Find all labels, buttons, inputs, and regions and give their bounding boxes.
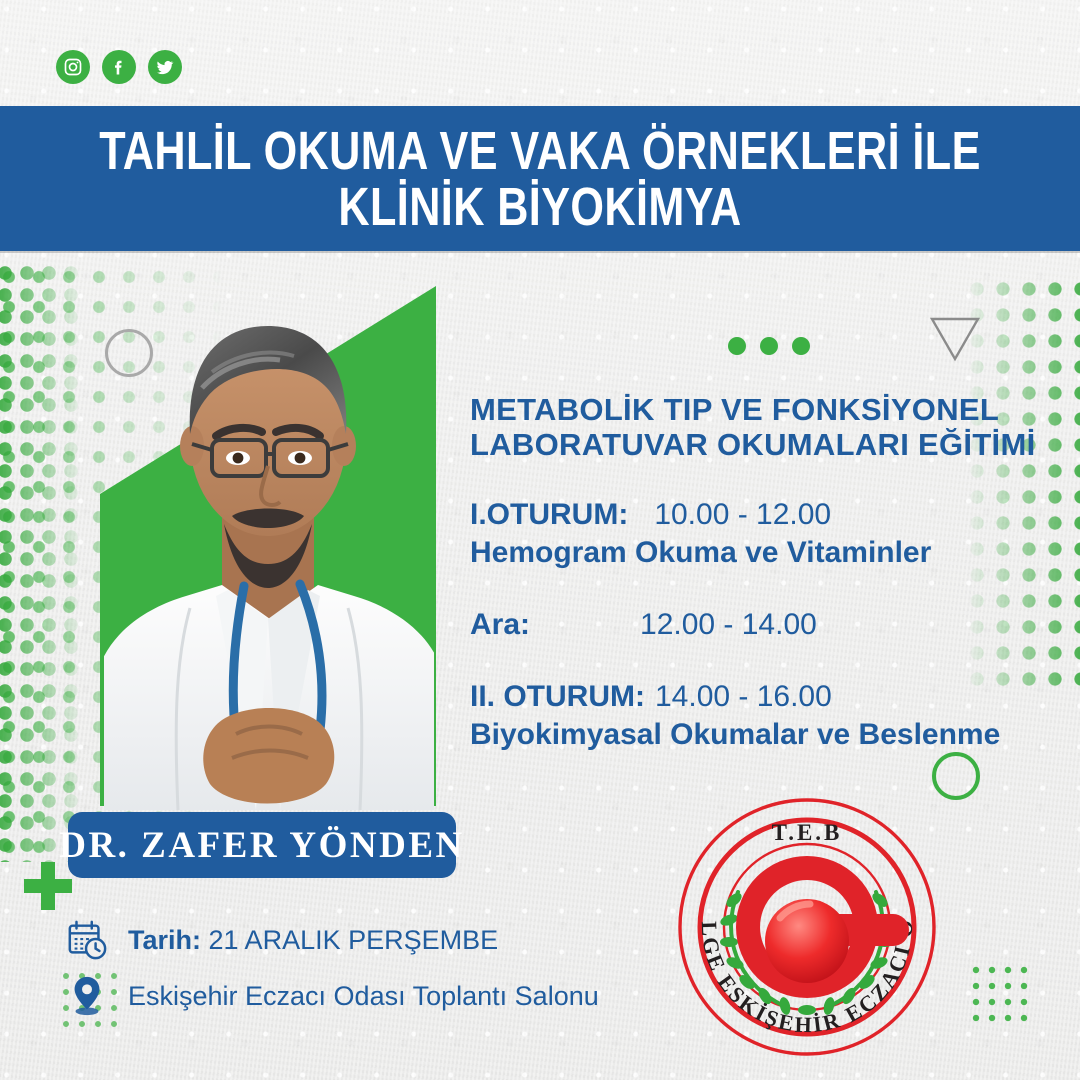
speaker-name-badge: DR. ZAFER YÖNDEN (68, 812, 456, 878)
facebook-icon[interactable] (102, 50, 136, 84)
three-green-dots-icon (728, 337, 810, 355)
program-title-line-2: LABORATUVAR OKUMALARI EĞİTİMİ (470, 427, 1070, 462)
title-banner: TAHLİL OKUMA VE VAKA ÖRNEKLERİ İLE KLİNİ… (0, 106, 1080, 251)
program-panel: METABOLİK TIP VE FONKSİYONEL LABORATUVAR… (470, 392, 1070, 754)
event-date-row: Tarih: 21 ARALIK PERŞEMBE (64, 912, 684, 968)
event-venue-row: Eskişehir Eczacı Odası Toplantı Salonu (64, 968, 684, 1024)
session-1-subtitle: Hemogram Okuma ve Vitaminler (470, 534, 1070, 572)
event-date-text: Tarih: 21 ARALIK PERŞEMBE (128, 925, 498, 956)
location-pin-icon (64, 973, 110, 1019)
green-dot-grid-bottom-right (968, 962, 1028, 1024)
session-3-label: II. OTURUM: (470, 680, 645, 713)
session-3-subtitle: Biyokimyasal Okumalar ve Beslenme (470, 716, 1070, 754)
doctor-portrait (104, 268, 434, 810)
green-plus-icon (24, 862, 72, 910)
gray-triangle-icon (930, 316, 980, 367)
event-date-value: 21 ARALIK PERŞEMBE (209, 925, 499, 955)
teb-logo: T.E.B 9. BÖLGE ESKİŞEHİR ECZACI ODASI (676, 796, 938, 1058)
session-1-time: 10.00 - 12.00 (654, 498, 831, 531)
session-3-time: 14.00 - 16.00 (655, 680, 832, 713)
session-2-time: 12.00 - 14.00 (640, 608, 817, 641)
session-1: I.OTURUM:10.00 - 12.00 Hemogram Okuma ve… (470, 496, 1070, 572)
session-2-label: Ara: (470, 608, 530, 641)
speaker-name: DR. ZAFER YÖNDEN (59, 824, 465, 867)
calendar-clock-icon (64, 917, 110, 963)
poster-canvas: TAHLİL OKUMA VE VAKA ÖRNEKLERİ İLE KLİNİ… (0, 0, 1080, 1080)
event-info: Tarih: 21 ARALIK PERŞEMBE Eskişehir Ecza… (64, 912, 684, 1024)
green-halftone-left (0, 262, 86, 862)
banner-line-1: TAHLİL OKUMA VE VAKA ÖRNEKLERİ İLE (99, 123, 981, 179)
session-1-label: I.OTURUM: (470, 498, 628, 531)
session-3: II. OTURUM:14.00 - 16.00 Biyokimyasal Ok… (470, 678, 1070, 754)
event-date-label: Tarih: (128, 925, 201, 955)
instagram-icon[interactable] (56, 50, 90, 84)
session-2: Ara:12.00 - 14.00 (470, 606, 1070, 644)
teb-logo-top-text: T.E.B (772, 820, 843, 845)
event-venue-text: Eskişehir Eczacı Odası Toplantı Salonu (128, 981, 599, 1012)
green-circle-outline-icon (932, 752, 980, 800)
banner-line-2: KLİNİK BİYOKİMYA (338, 179, 741, 235)
social-links (56, 50, 182, 84)
program-title-line-1: METABOLİK TIP VE FONKSİYONEL (470, 392, 1070, 427)
twitter-icon[interactable] (148, 50, 182, 84)
